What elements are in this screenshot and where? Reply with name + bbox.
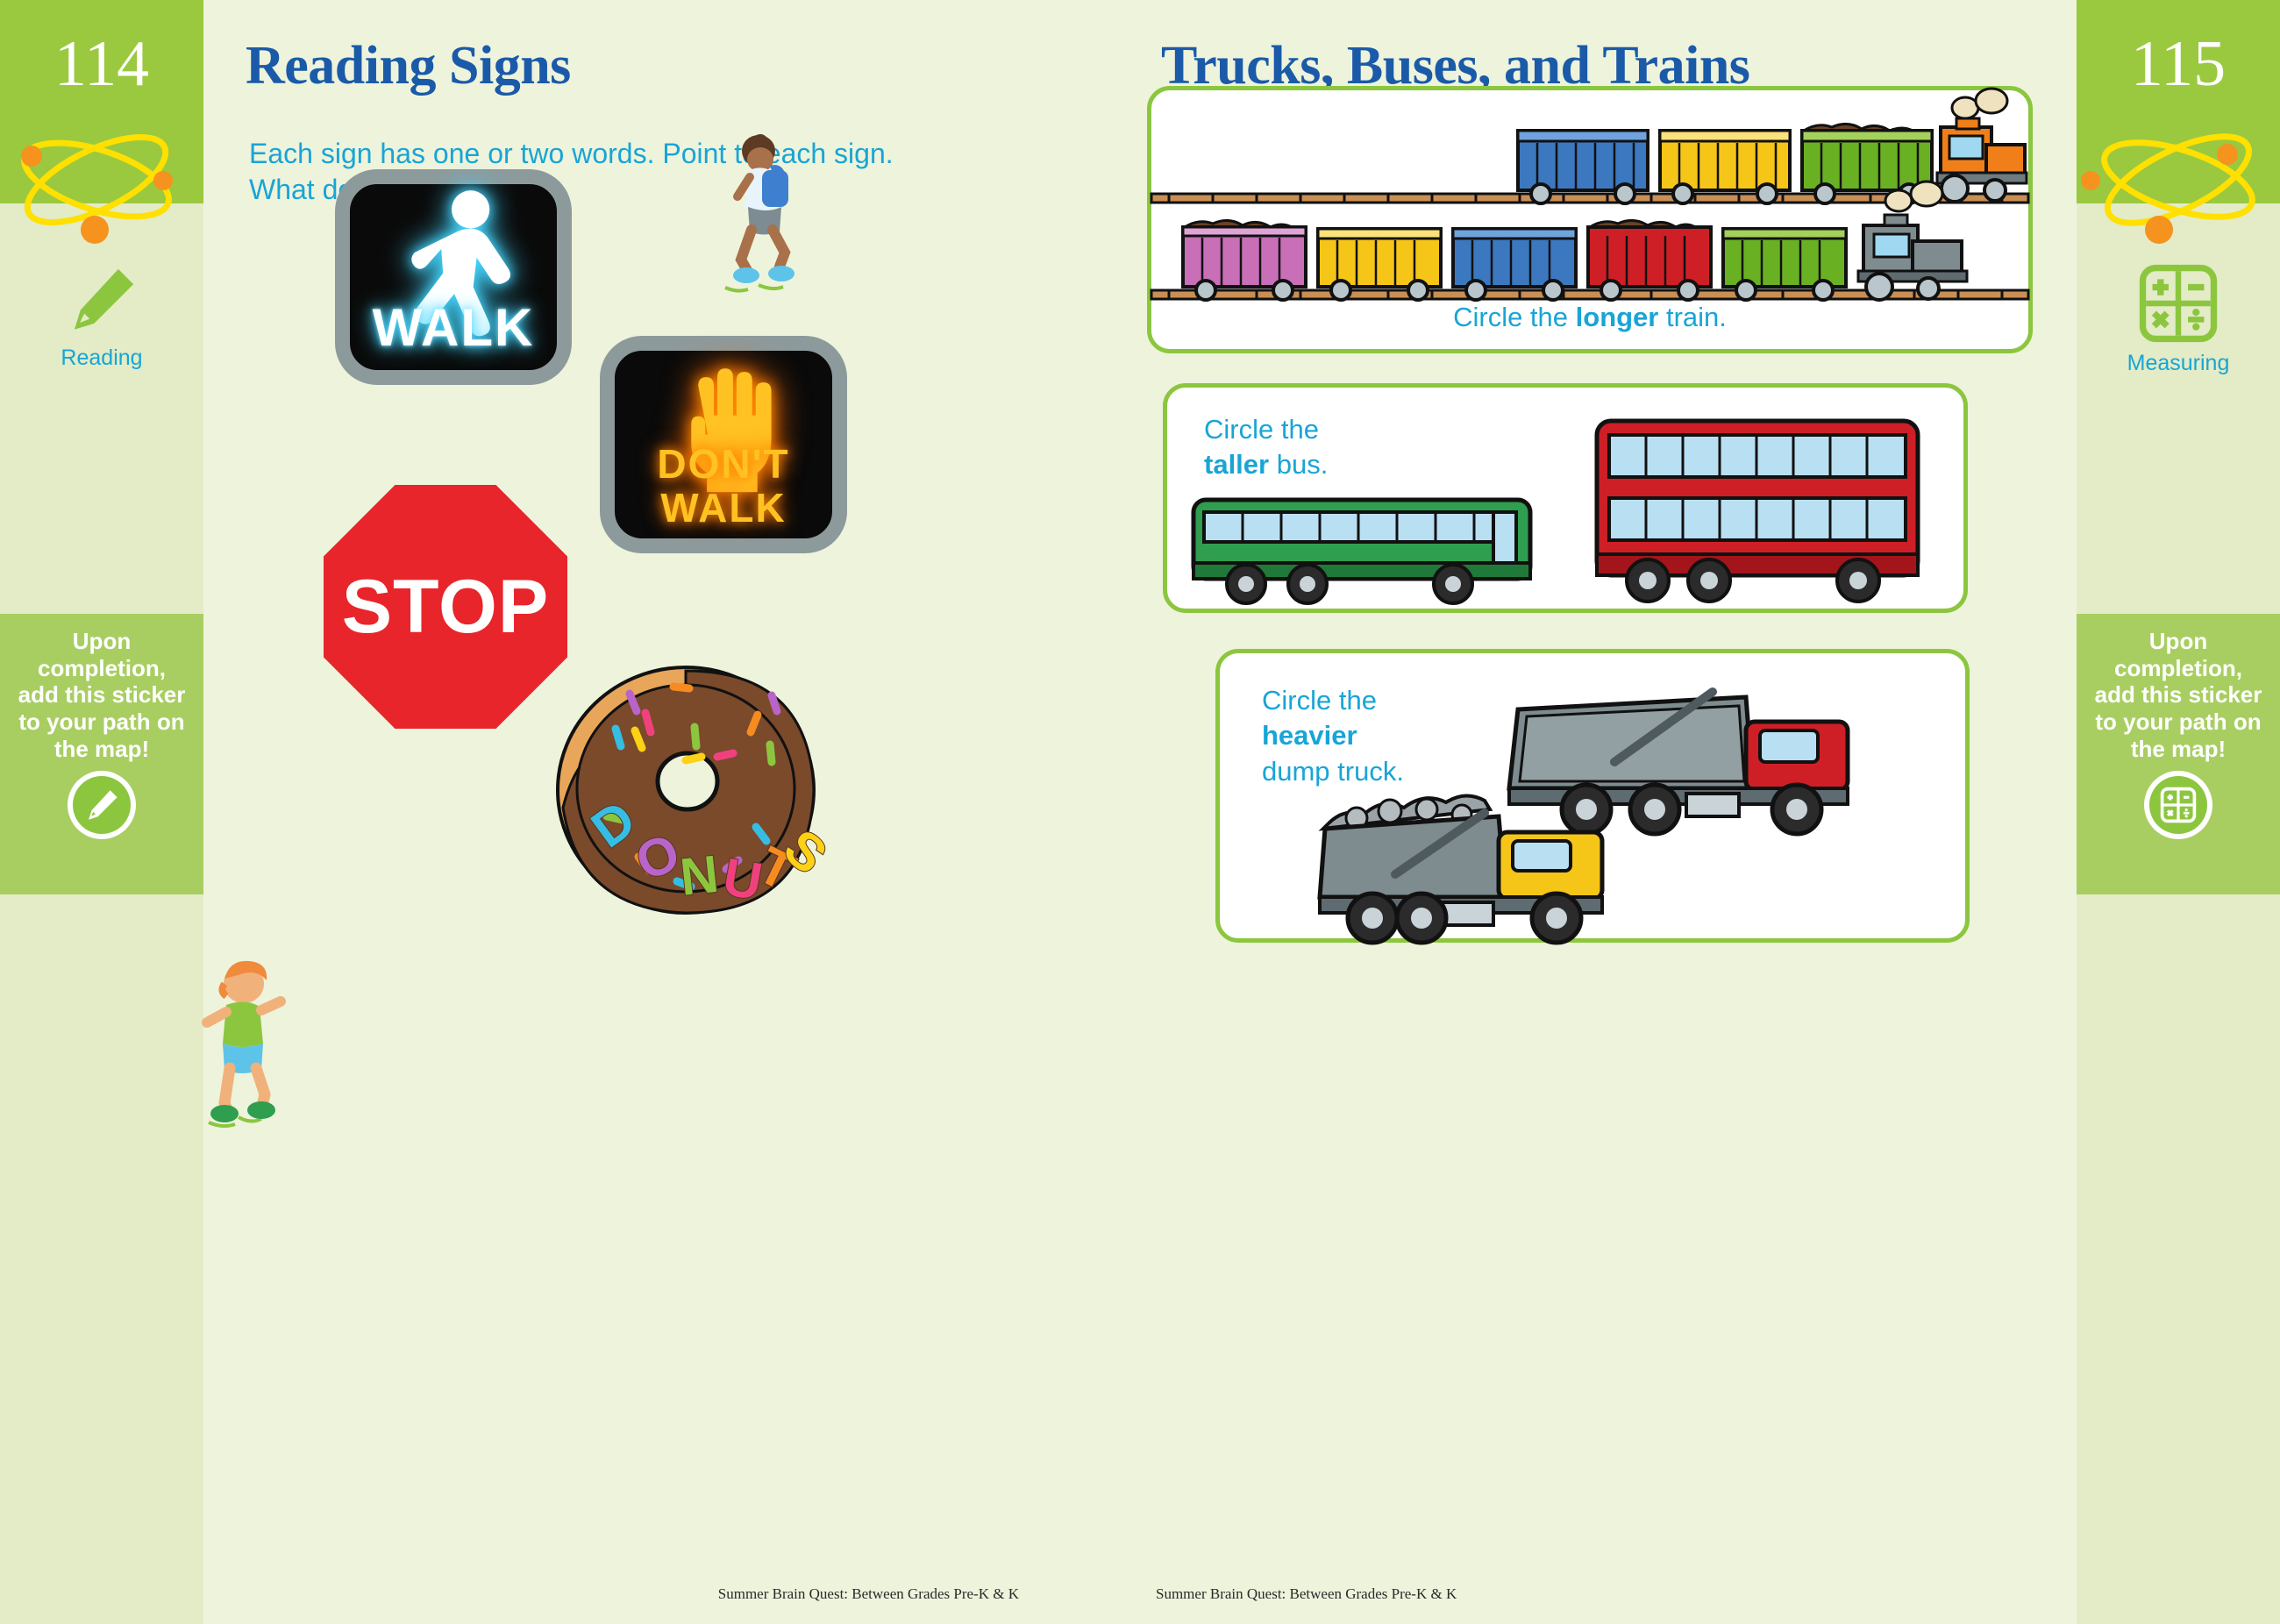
right-subject-label: Measuring [2077,351,2280,376]
right-footer: Summer Brain Quest: Between Grades Pre-K… [1156,1585,1457,1603]
right-page: Trucks, Buses, and Trains Compare each o… [1147,0,2077,1624]
train-engine-orange [1937,89,2027,202]
top-train [1151,89,2028,203]
left-sticker-badge [68,771,136,839]
left-footer: Summer Brain Quest: Between Grades Pre-K… [718,1585,1019,1603]
workbook-spread: 114 Reading Upon completion, add this st… [0,0,2280,1624]
walk-sign-label: WALK [350,297,557,358]
calculator-icon [2138,263,2219,344]
green-single-decker-bus[interactable] [1185,479,1553,609]
train-car-red [1588,220,1711,300]
train-comparison-illustration [1151,96,2028,306]
left-sticker-text: Upon completion, add this sticker to you… [0,614,203,762]
atom-icon [0,105,203,254]
pencil-icon [64,263,139,338]
bus-instruction: Circle the taller bus. [1204,412,1328,483]
right-subject: Measuring [2077,263,2280,376]
left-subject: Reading [0,263,203,371]
truck-instruction-bold: heavier [1262,720,1357,751]
left-subject-label: Reading [0,345,203,371]
left-page: Reading Signs Each sign has one or two w… [203,0,1133,1624]
right-rail: 115 Measuring Upon completion, [2077,0,2280,1624]
donut-illustration[interactable]: D O N U T S [554,660,817,915]
train-activity-card[interactable]: Circle the longer train. [1147,86,2033,353]
walk-sign[interactable]: WALK [335,169,572,385]
train-instruction-bold: longer [1576,302,1659,332]
dont-walk-label-line1: DON'T [615,445,832,484]
train-instruction: Circle the longer train. [1151,300,2028,335]
dont-walk-label-line2: WALK [615,488,832,528]
train-instruction-pre: Circle the [1453,302,1576,332]
dont-walk-sign[interactable]: DON'T WALK [600,336,847,553]
loaded-yellow-dump-truck[interactable] [1299,783,1702,950]
right-page-number: 115 [2077,32,2280,96]
atom-icon [2077,105,2280,254]
calculator-badge-icon [2158,785,2198,825]
left-rail: 114 Reading Upon completion, add this st… [0,0,203,1624]
bus-activity-card[interactable]: Circle the taller bus. [1163,383,1968,613]
bus-instruction-post: bus. [1269,449,1328,480]
truck-instruction-post: dump truck. [1262,756,1404,787]
bus-instruction-pre: Circle the [1204,414,1319,445]
donut-letter-n: N [677,844,721,907]
dump-truck-activity-card[interactable]: Circle the heavier dump truck. [1215,649,1970,943]
spread-gutter [1133,0,1147,1624]
stop-sign[interactable]: STOP [324,485,567,729]
left-page-title: Reading Signs [246,35,571,97]
pencil-badge-icon [82,786,121,824]
right-sticker-badge [2144,771,2212,839]
stop-sign-label: STOP [342,564,550,651]
red-double-decker-bus[interactable] [1579,407,1948,609]
running-girl-illustration [708,132,830,294]
train-car-purple [1183,220,1306,300]
right-sticker-text: Upon completion, add this sticker to you… [2077,614,2280,762]
train-instruction-post: train. [1658,302,1727,332]
walking-boy-illustration [133,956,274,1131]
bus-instruction-bold: taller [1204,449,1269,480]
right-sticker-note: Upon completion, add this sticker to you… [2077,614,2280,894]
truck-instruction: Circle the heavier dump truck. [1262,683,1404,789]
left-sticker-note: Upon completion, add this sticker to you… [0,614,203,894]
truck-instruction-pre: Circle the [1262,685,1377,716]
left-page-number: 114 [0,32,203,96]
